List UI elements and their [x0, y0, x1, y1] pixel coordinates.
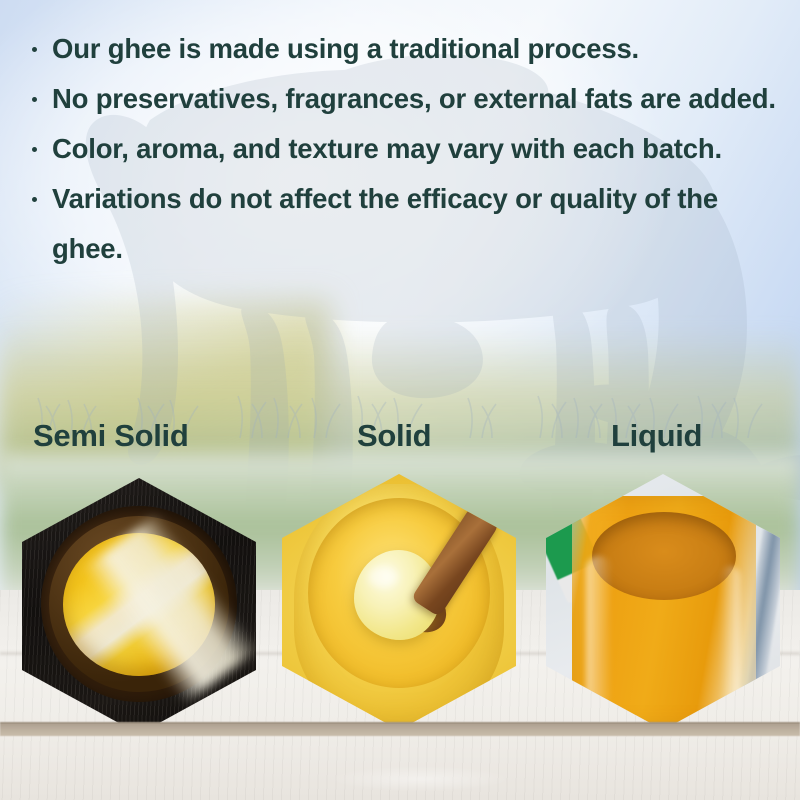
plank-highlight	[330, 766, 510, 792]
product-label-row: Semi Solid Solid Liquid	[0, 418, 800, 462]
product-image-semi-solid	[22, 478, 256, 734]
bullet-item-2: No preservatives, fragrances, or externa…	[26, 74, 782, 124]
product-label-solid: Solid	[357, 418, 431, 454]
product-label-liquid: Liquid	[611, 418, 702, 454]
product-label-semi-solid: Semi Solid	[33, 418, 188, 454]
feature-bullet-list: Our ghee is made using a traditional pro…	[26, 24, 782, 274]
ghee-bowl	[41, 506, 237, 702]
ghee-info-poster: Our ghee is made using a traditional pro…	[0, 0, 800, 800]
semi-solid-ghee	[63, 533, 215, 676]
bullet-item-3: Color, aroma, and texture may vary with …	[26, 124, 782, 174]
product-image-row	[0, 470, 800, 732]
bullet-item-1: Our ghee is made using a traditional pro…	[26, 24, 782, 74]
product-image-solid	[282, 474, 516, 730]
bullet-item-4: Variations do not affect the efficacy or…	[26, 174, 782, 274]
liquid-ghee-jar	[572, 496, 756, 730]
jar-highlight-right	[720, 566, 740, 706]
jar-highlight-left	[586, 556, 612, 706]
product-image-liquid	[546, 474, 780, 730]
ghee-surface	[592, 512, 736, 600]
bowl-rim	[49, 516, 229, 692]
